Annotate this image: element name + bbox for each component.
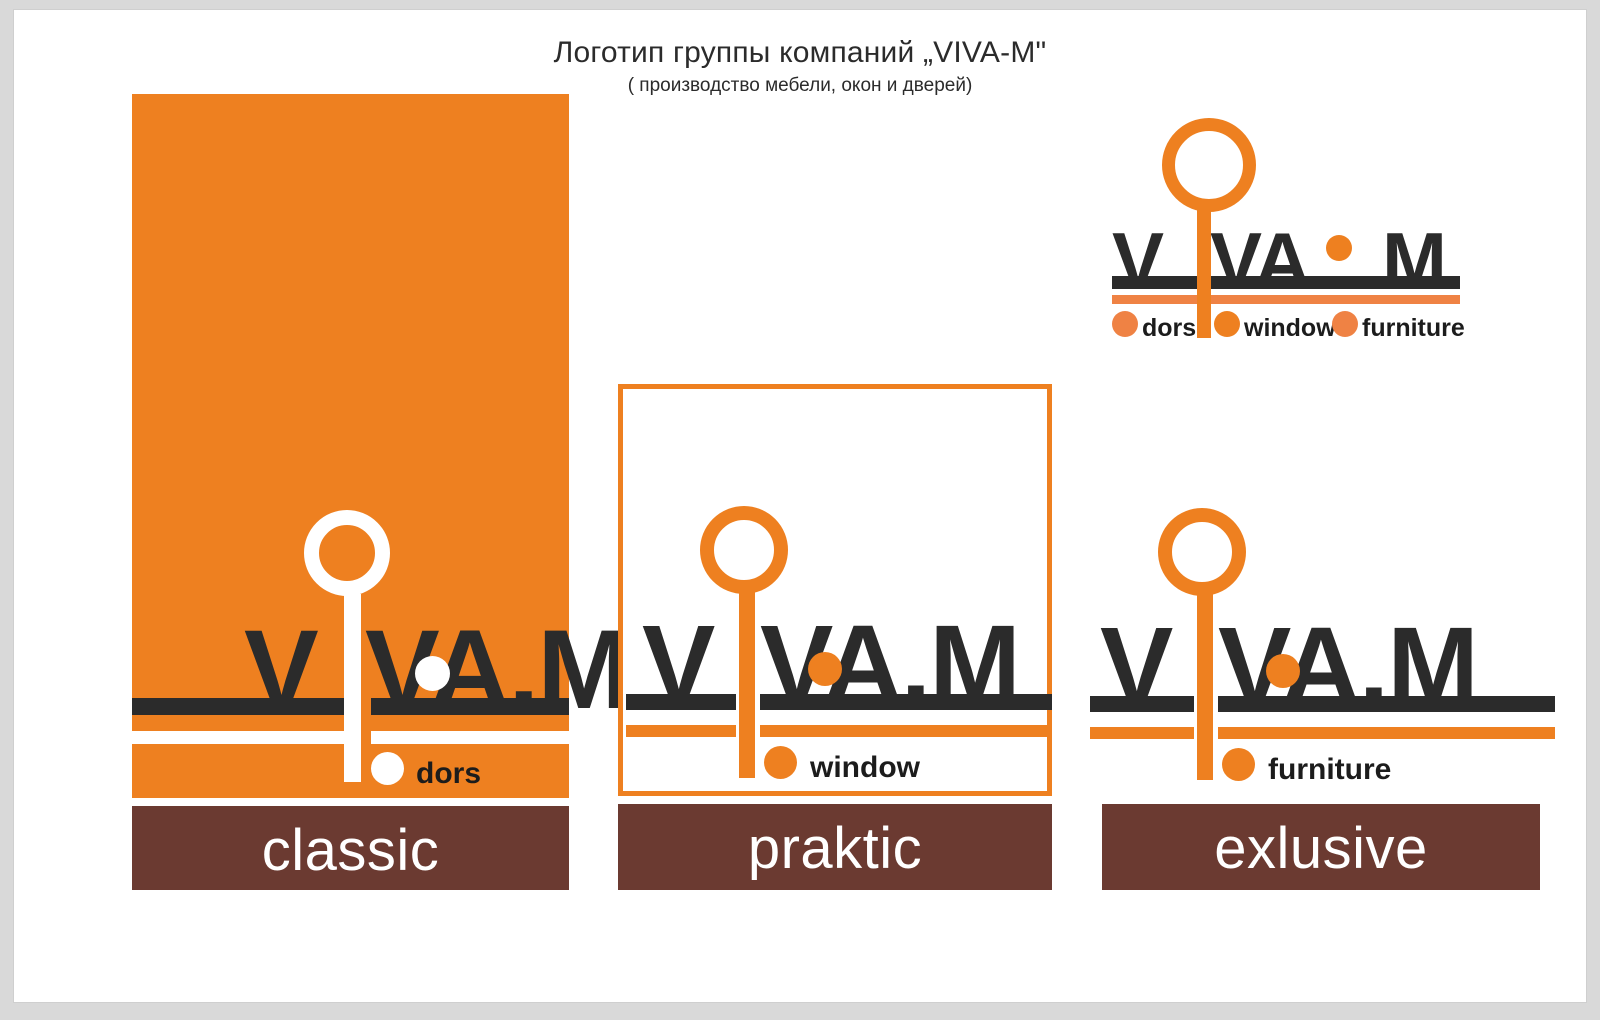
separator-dot-icon [415, 656, 450, 691]
tagline-dot-furniture-icon [1332, 311, 1358, 337]
tagline-dot-icon [764, 746, 797, 779]
rule-light-right [371, 731, 569, 744]
variant-label-text: exlusive [1102, 804, 1540, 878]
tagline-dot-icon [371, 752, 404, 785]
variant-label-text: classic [132, 806, 569, 880]
vertical-stem-icon [739, 592, 755, 778]
logo-lockup-praktic: V VA.M window [638, 506, 1058, 796]
tagline-dors: dors [1142, 316, 1196, 341]
tagline-dot-dors-icon [1112, 311, 1138, 337]
rule-black-right [371, 698, 569, 715]
variant-label-classic: classic [132, 806, 569, 890]
rule-black-right [760, 694, 1052, 710]
tagline-furniture: furniture [1268, 755, 1391, 785]
heading-block: Логотип группы компаний „VIVA-M" ( произ… [14, 36, 1586, 97]
tagline-dot-window-icon [1214, 311, 1240, 337]
tagline-window: window [810, 753, 920, 783]
rule-orange-left [1090, 727, 1194, 739]
rule-orange-right [760, 725, 1052, 737]
rule-black-left [1112, 276, 1200, 289]
separator-dot-icon [1266, 654, 1300, 688]
variant-label-exlusive: exlusive [1102, 804, 1540, 890]
circle-ring-icon [1158, 508, 1246, 596]
rule-black-left [1090, 696, 1194, 712]
circle-ring-icon [1162, 118, 1256, 212]
page-title: Логотип группы компаний „VIVA-M" [14, 36, 1586, 70]
variant-panel-praktic: V VA.M window praktic [618, 384, 1052, 890]
tagline-dors: dors [416, 759, 481, 789]
rule-orange-right [1218, 727, 1555, 739]
rule-black-left [626, 694, 736, 710]
master-logo-lockup: V VA M dors window furniture [1104, 118, 1474, 348]
rule-orange-right [1208, 295, 1460, 304]
rule-orange-left [626, 725, 736, 737]
circle-ring-icon [700, 506, 788, 594]
separator-dot-icon [1326, 235, 1352, 261]
variant-panel-classic: V VA.M dors classic [132, 94, 569, 890]
vertical-stem-icon [1197, 594, 1213, 780]
logo-lockup-exlusive: V VA.M furniture [1090, 508, 1550, 798]
rule-black-right [1218, 696, 1555, 712]
vertical-stem-icon [344, 594, 361, 782]
separator-dot-icon [808, 652, 842, 686]
variant-label-text: praktic [618, 804, 1052, 878]
rule-orange-left [1112, 295, 1200, 304]
rule-black-left [132, 698, 358, 715]
presentation-canvas: Логотип группы компаний „VIVA-M" ( произ… [14, 10, 1586, 1002]
variant-label-praktic: praktic [618, 804, 1052, 890]
tagline-furniture: furniture [1362, 316, 1465, 341]
vertical-stem-icon [1197, 210, 1211, 338]
rule-black-right [1208, 276, 1460, 289]
logo-lockup-classic: V VA.M dors [124, 510, 569, 800]
rule-light-left [132, 731, 358, 744]
tagline-dot-icon [1222, 748, 1255, 781]
variant-panel-exlusive: V VA.M furniture exlusive [1084, 508, 1550, 890]
circle-ring-icon [304, 510, 390, 596]
tagline-window: window [1244, 316, 1336, 341]
